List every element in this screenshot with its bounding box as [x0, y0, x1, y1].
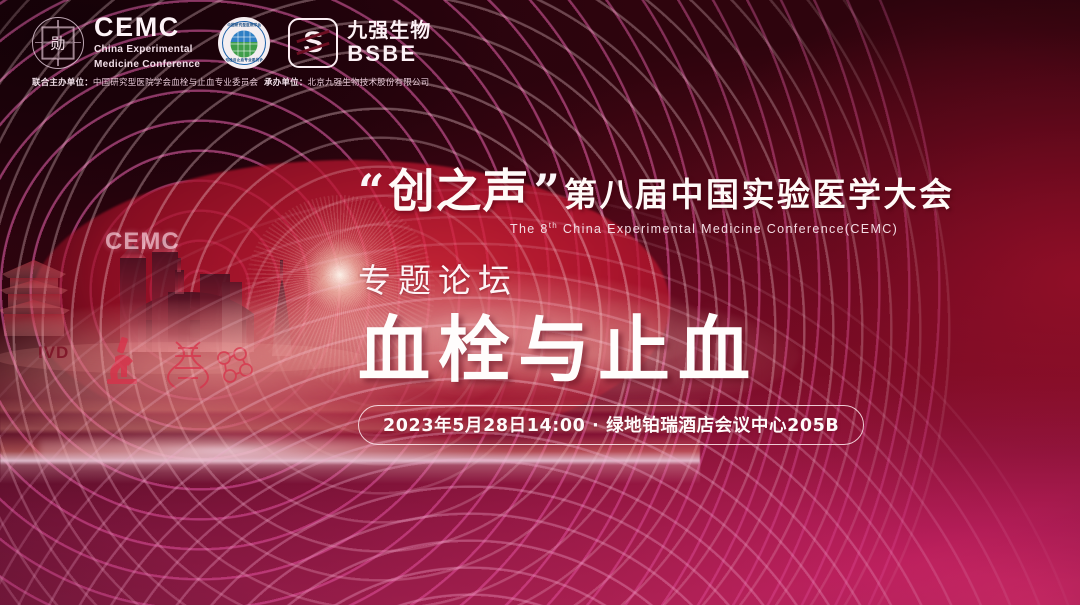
conference-title-rest: 第八届中国实验医学大会 [564, 178, 955, 214]
cemc-subline-1: China Experimental [94, 44, 200, 56]
conference-title-emphasis: 创之声 [388, 168, 529, 214]
bsbe-logo: S 九强生物 BSBE [288, 18, 431, 68]
cemc-wordmark: CEMC [94, 14, 200, 41]
society-emblem-icon: 中国研究型医院学会 血栓与止血专业委员会 [218, 17, 270, 69]
cemc-seal-icon: 勋 [32, 17, 84, 69]
undertaker-value: 北京九强生物技术股份有限公司 [308, 78, 430, 88]
quote-close-mark: ” [533, 173, 559, 210]
quote-open-mark: “ [358, 173, 384, 210]
undertaker-label: 承办单位： [264, 78, 308, 88]
conference-poster: CEMC IVD 勋 CEMC China Experimental Medic… [0, 0, 1080, 605]
title-en-prefix: The 8 [510, 222, 549, 236]
society-emblem-arc-bottom: 血栓与止血专业委员会 [219, 58, 269, 63]
conference-title-english: The 8th China Experimental Medicine Conf… [510, 221, 1038, 236]
forum-topic-title: 血栓与止血 [358, 312, 1038, 388]
bsbe-name-en: BSBE [347, 42, 431, 65]
header-band: 勋 CEMC China Experimental Medicine Confe… [0, 0, 1080, 96]
joint-host-value: 中国研究型医院学会血栓与止血专业委员会 [93, 78, 258, 88]
cemc-wordmark-block: CEMC China Experimental Medicine Confere… [94, 14, 200, 71]
bsbe-name-cn: 九强生物 [347, 20, 431, 41]
bsbe-text-block: 九强生物 BSBE [347, 20, 431, 65]
globe-icon [231, 30, 258, 57]
datetime-venue-pill: 2023年5月28日14:00 · 绿地铂瑞酒店会议中心205B [358, 405, 864, 445]
society-emblem-arc-top: 中国研究型医院学会 [219, 23, 269, 28]
seal-character: 勋 [50, 32, 65, 53]
logo-row: 勋 CEMC China Experimental Medicine Confe… [32, 14, 431, 71]
conference-title-row: “ 创之声 ” 第八届中国实验医学大会 [358, 168, 1038, 214]
title-en-ordinal: th [549, 221, 558, 230]
cemc-subline-2: Medicine Conference [94, 59, 200, 71]
joint-host-label: 联合主办单位： [32, 78, 93, 88]
cemc-logo: 勋 CEMC China Experimental Medicine Confe… [32, 14, 200, 71]
headline-block: “ 创之声 ” 第八届中国实验医学大会 The 8th China Experi… [358, 168, 1038, 445]
organizer-line: 联合主办单位：中国研究型医院学会血栓与止血专业委员会 承办单位：北京九强生物技术… [32, 76, 429, 88]
forum-label: 专题论坛 [358, 254, 1038, 302]
title-en-rest: China Experimental Medicine Conference(C… [558, 222, 898, 236]
bsbe-mark-icon: S [288, 18, 338, 68]
